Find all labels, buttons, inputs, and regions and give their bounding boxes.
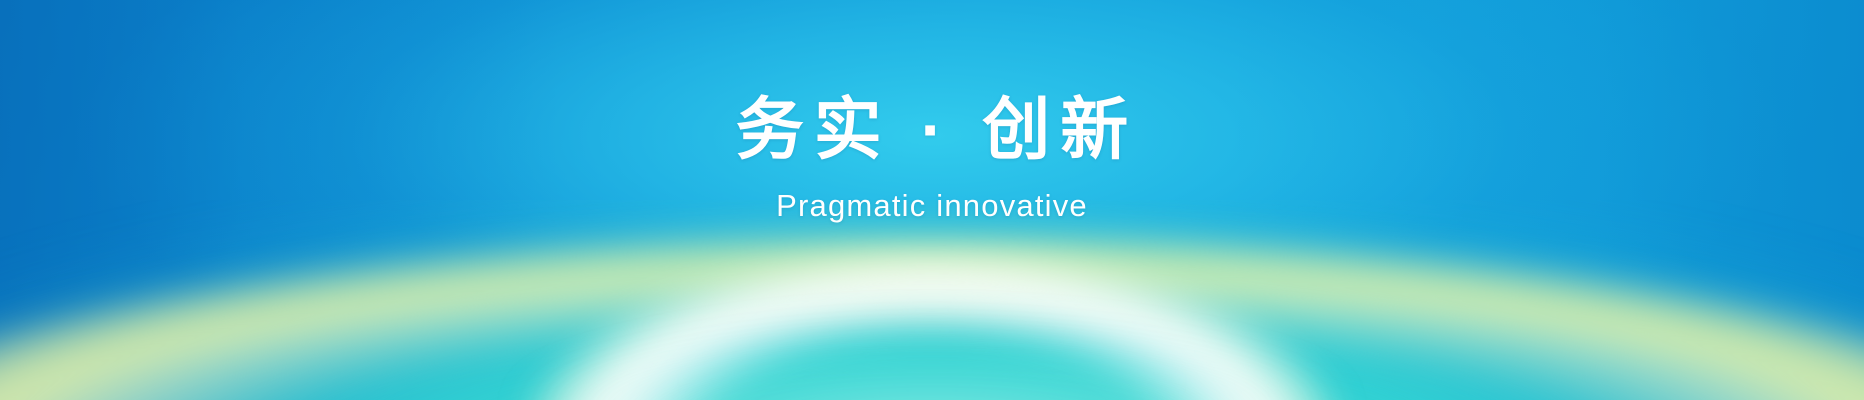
hero-banner: 务实 · 创新 Pragmatic innovative	[0, 0, 1864, 400]
banner-subtitle: Pragmatic innovative	[776, 190, 1088, 221]
banner-content: 务实 · 创新 Pragmatic innovative	[0, 0, 1864, 400]
banner-headline: 务实 · 创新	[726, 96, 1138, 164]
